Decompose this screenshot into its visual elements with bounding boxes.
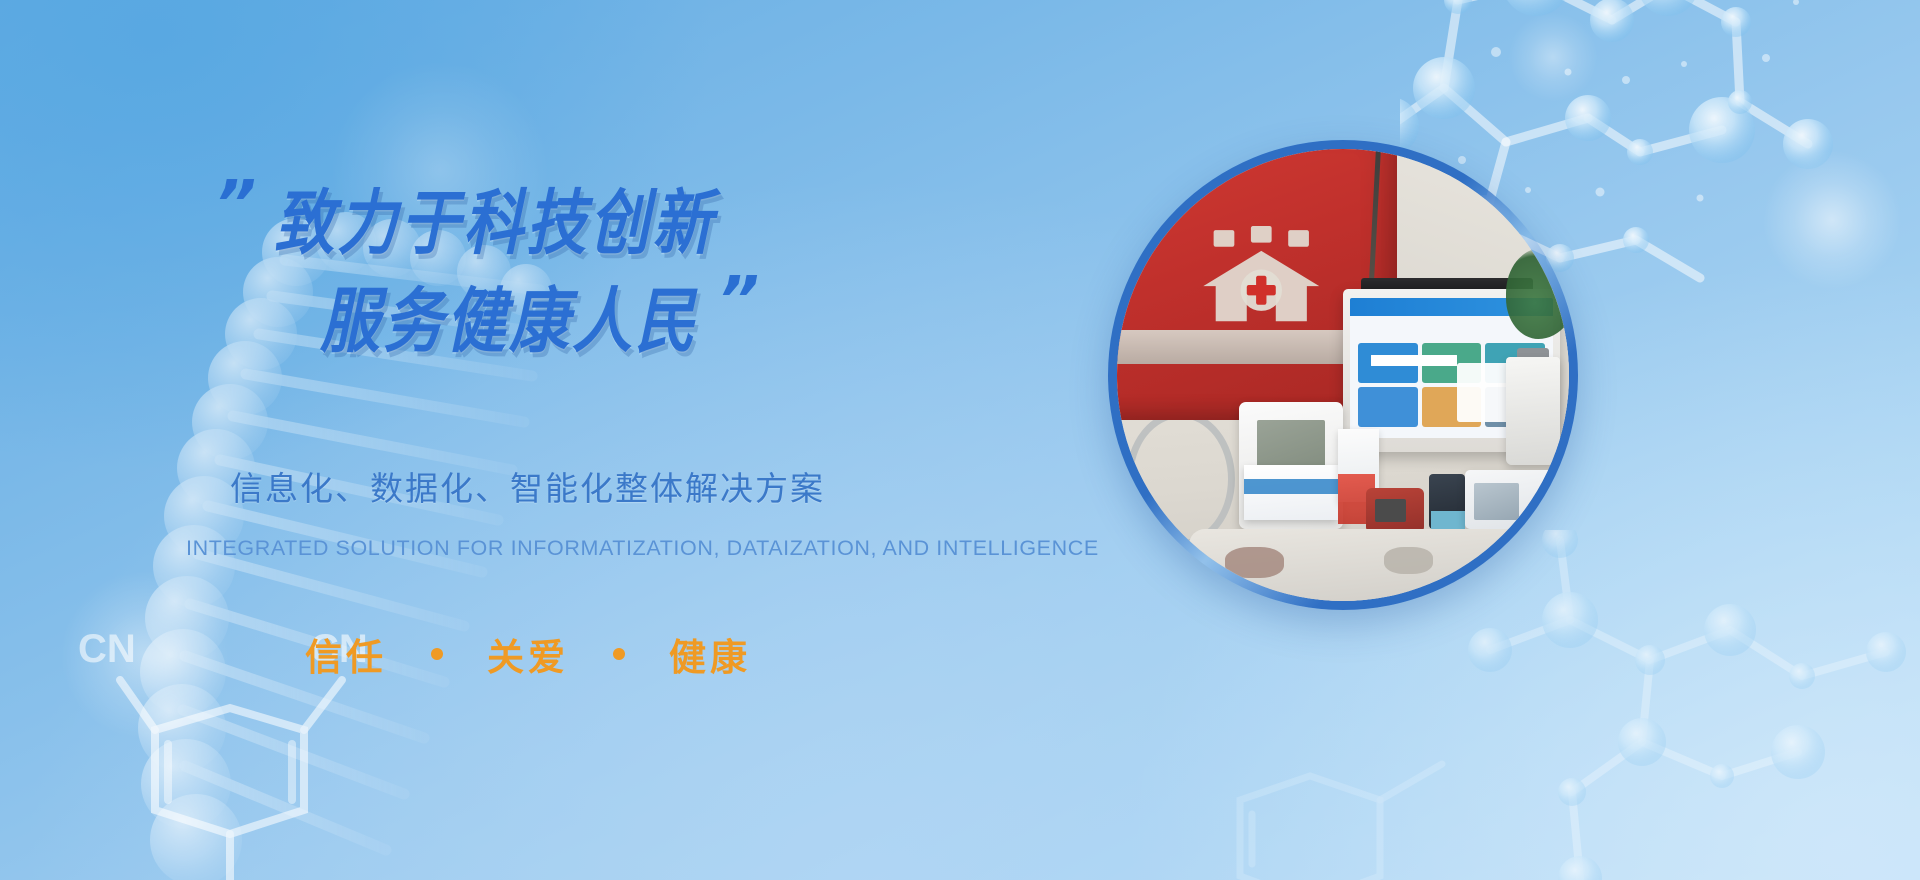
value-word-care: 关爱	[487, 627, 569, 681]
backpack-text: 能家医随访包	[1117, 149, 1397, 158]
headline-line-2-row: 服务健康人民 ”	[215, 273, 1045, 357]
family-doctor-house-icon	[1198, 226, 1325, 325]
kiosk-tile[interactable]	[1358, 387, 1418, 427]
potted-plant	[1506, 248, 1569, 338]
headline-line-1-row: ” 致力于科技创新	[215, 175, 1045, 259]
headline-line-1: 致力于科技创新	[274, 166, 715, 269]
value-keywords: 信任 关爱 健康	[305, 627, 751, 681]
subtitle-chinese: 信息化、数据化、智能化整体解决方案	[230, 462, 825, 510]
value-separator-dot-2	[613, 648, 625, 660]
kiosk-tile-label	[1371, 355, 1457, 367]
value-word-health: 健康	[669, 627, 751, 681]
hero-copy: ” 致力于科技创新 服务健康人民 ” 信息化、数据化、智能化整体解决方案 INT…	[0, 0, 1000, 880]
glucose-meter-box	[1244, 465, 1339, 519]
product-photo: 能家医随访包	[1117, 149, 1569, 601]
headline-block: ” 致力于科技创新 服务健康人民 ”	[215, 175, 1045, 357]
value-word-trust: 信任	[305, 627, 387, 681]
glow-decor-3	[1508, 12, 1598, 102]
subtitle-english: INTEGRATED SOLUTION FOR INFORMATIZATION,…	[186, 536, 1099, 561]
headline-line-2: 服务健康人民	[320, 264, 698, 367]
test-strip-bottle	[1506, 357, 1560, 465]
glow-decor-2	[1762, 150, 1902, 290]
handheld-glucose-display	[1375, 499, 1407, 522]
blood-pressure-cuff	[1126, 411, 1234, 547]
portable-ecg-display	[1474, 483, 1519, 519]
value-separator-dot-1	[431, 648, 443, 660]
circular-photo-frame: 能家医随访包	[1108, 140, 1578, 610]
quote-close-icon: ”	[718, 269, 755, 333]
quote-open-icon: ”	[215, 173, 252, 237]
chemical-structure-decoration-faint	[1180, 720, 1480, 880]
tray-pad-right	[1384, 547, 1434, 574]
hero-banner: CN CN ” 致力于科技创新 服务健康人民 ”	[0, 0, 1920, 880]
tray-pad-left	[1225, 547, 1284, 579]
